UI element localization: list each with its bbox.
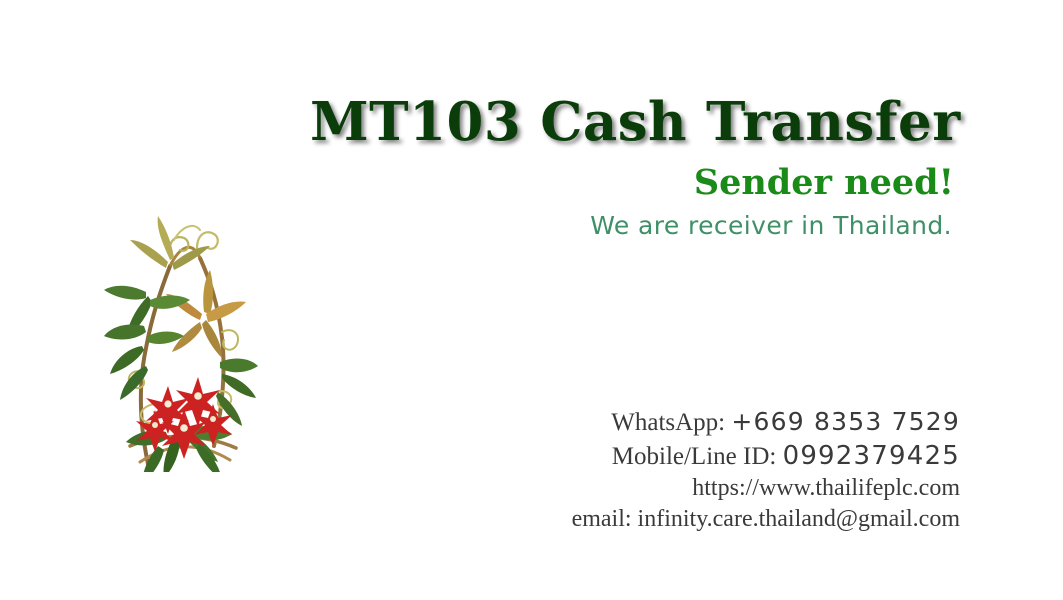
tagline: We are receiver in Thailand. [300, 212, 952, 240]
subtitle: Sender need! [300, 165, 954, 202]
contact-website-value[interactable]: https://www.thailifeplc.com [692, 475, 960, 501]
headline-block: MT103 Cash Transfer Sender need! We are … [300, 96, 960, 239]
botanical-vine-wreath-illustration [96, 196, 266, 472]
contact-whatsapp-value[interactable]: +669 8353 7529 [731, 407, 960, 436]
page-title: MT103 Cash Transfer [310, 96, 960, 149]
contact-mobile: Mobile/Line ID: 0992379425 [420, 440, 960, 474]
contact-email: email: infinity.care.thailand@gmail.com [420, 504, 960, 535]
contact-email-value[interactable]: infinity.care.thailand@gmail.com [638, 506, 960, 532]
contact-whatsapp-label: WhatsApp: [611, 409, 725, 436]
contact-block: WhatsApp: +669 8353 7529 Mobile/Line ID:… [420, 406, 960, 536]
illustration-flowers [136, 377, 232, 459]
contact-mobile-label: Mobile/Line ID: [612, 443, 777, 470]
contact-whatsapp: WhatsApp: +669 8353 7529 [420, 406, 960, 440]
contact-mobile-value[interactable]: 0992379425 [783, 441, 960, 471]
flyer-canvas: MT103 Cash Transfer Sender need! We are … [0, 0, 1063, 600]
contact-website: https://www.thailifeplc.com [420, 473, 960, 504]
contact-email-label: email: [572, 506, 632, 532]
